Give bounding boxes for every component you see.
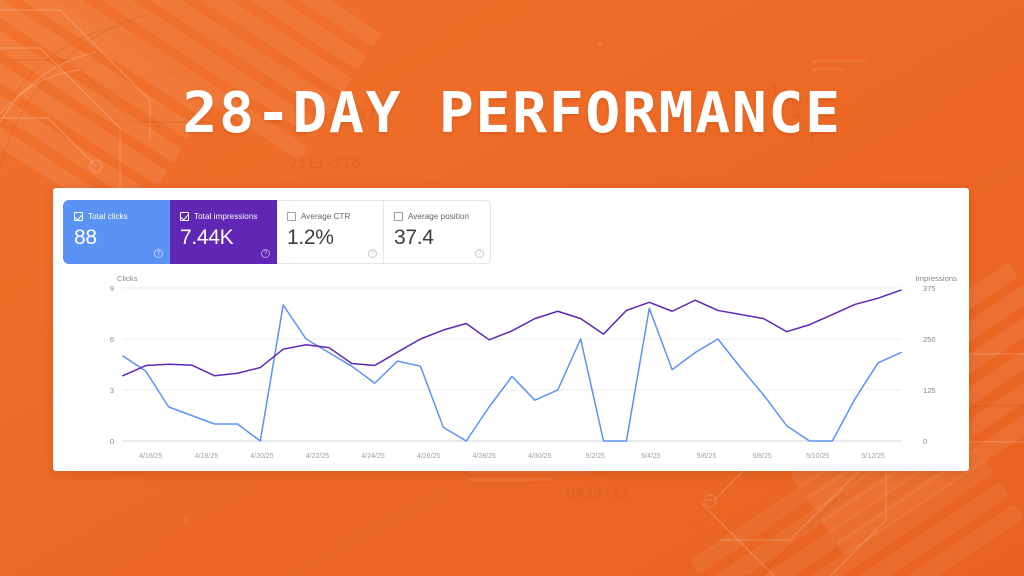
x-axis-tick: 5/12/25 <box>862 453 885 460</box>
series-line-right <box>123 290 901 376</box>
x-axis-tick: 4/16/25 <box>139 453 162 460</box>
checkbox-unchecked-icon[interactable] <box>287 212 296 221</box>
left-axis-tick: 3 <box>110 386 114 395</box>
help-icon[interactable]: ? <box>368 249 377 258</box>
checkbox-checked-icon[interactable] <box>74 212 83 221</box>
left-axis-tick: 9 <box>110 284 114 293</box>
metric-label: Average position <box>408 212 469 221</box>
x-axis-tick: 4/26/25 <box>417 453 440 460</box>
card-header: Average position <box>394 210 480 222</box>
right-axis-tick: 0 <box>923 437 927 446</box>
card-header: Average CTR <box>287 210 373 222</box>
metric-value: 1.2% <box>287 225 373 250</box>
metric-value: 37.4 <box>394 225 480 250</box>
x-axis-tick: 4/22/25 <box>306 453 329 460</box>
performance-panel: Total clicks 88 ? Total impressions 7.44… <box>53 188 969 471</box>
x-axis-tick: 5/10/25 <box>806 453 829 460</box>
x-axis-tick: 5/2/25 <box>586 453 606 460</box>
chart-svg: 036901252503754/16/254/18/254/20/254/22/… <box>53 274 969 471</box>
performance-chart: Clicks Impressions 036901252503754/16/25… <box>53 274 969 471</box>
help-icon[interactable]: ? <box>261 249 270 258</box>
x-axis-tick: 4/28/25 <box>473 453 496 460</box>
x-axis-tick: 4/20/25 <box>250 453 273 460</box>
x-axis-tick: 4/24/25 <box>361 453 384 460</box>
left-axis-tick: 0 <box>110 437 114 446</box>
svg-text:9313-216: 9313-216 <box>288 154 360 172</box>
svg-text:0429-17: 0429-17 <box>566 484 629 502</box>
metric-label: Average CTR <box>301 212 350 221</box>
right-axis-tick: 250 <box>923 335 936 344</box>
metric-value: 88 <box>74 225 159 250</box>
card-header: Total impressions <box>180 210 266 222</box>
metric-card-total-clicks[interactable]: Total clicks 88 ? <box>63 200 170 264</box>
checkbox-checked-icon[interactable] <box>180 212 189 221</box>
x-axis-tick: 5/8/25 <box>752 453 772 460</box>
x-axis-tick: 5/4/25 <box>641 453 661 460</box>
metric-label: Total impressions <box>194 212 258 221</box>
help-icon[interactable]: ? <box>154 249 163 258</box>
checkbox-unchecked-icon[interactable] <box>394 212 403 221</box>
card-header: Total clicks <box>74 210 159 222</box>
metric-cards: Total clicks 88 ? Total impressions 7.44… <box>63 200 491 264</box>
metric-card-total-impressions[interactable]: Total impressions 7.44K ? <box>170 200 277 264</box>
x-axis-tick: 5/6/25 <box>697 453 717 460</box>
right-axis-tick: 125 <box>923 386 936 395</box>
metric-card-average-position[interactable]: Average position 37.4 ? <box>384 200 491 264</box>
x-axis-tick: 4/18/25 <box>195 453 218 460</box>
help-icon[interactable]: ? <box>475 249 484 258</box>
left-axis-tick: 6 <box>110 335 114 344</box>
right-axis-tick: 375 <box>923 284 936 293</box>
x-axis-tick: 4/30/25 <box>528 453 551 460</box>
metric-card-average-ctr[interactable]: Average CTR 1.2% ? <box>277 200 384 264</box>
slide-canvas: 9313-216 5174-033 0429-17 11 4 7 28-DAY … <box>0 0 1024 576</box>
page-title: 28-DAY PERFORMANCE <box>0 84 1024 144</box>
metric-label: Total clicks <box>88 212 128 221</box>
metric-value: 7.44K <box>180 225 266 250</box>
